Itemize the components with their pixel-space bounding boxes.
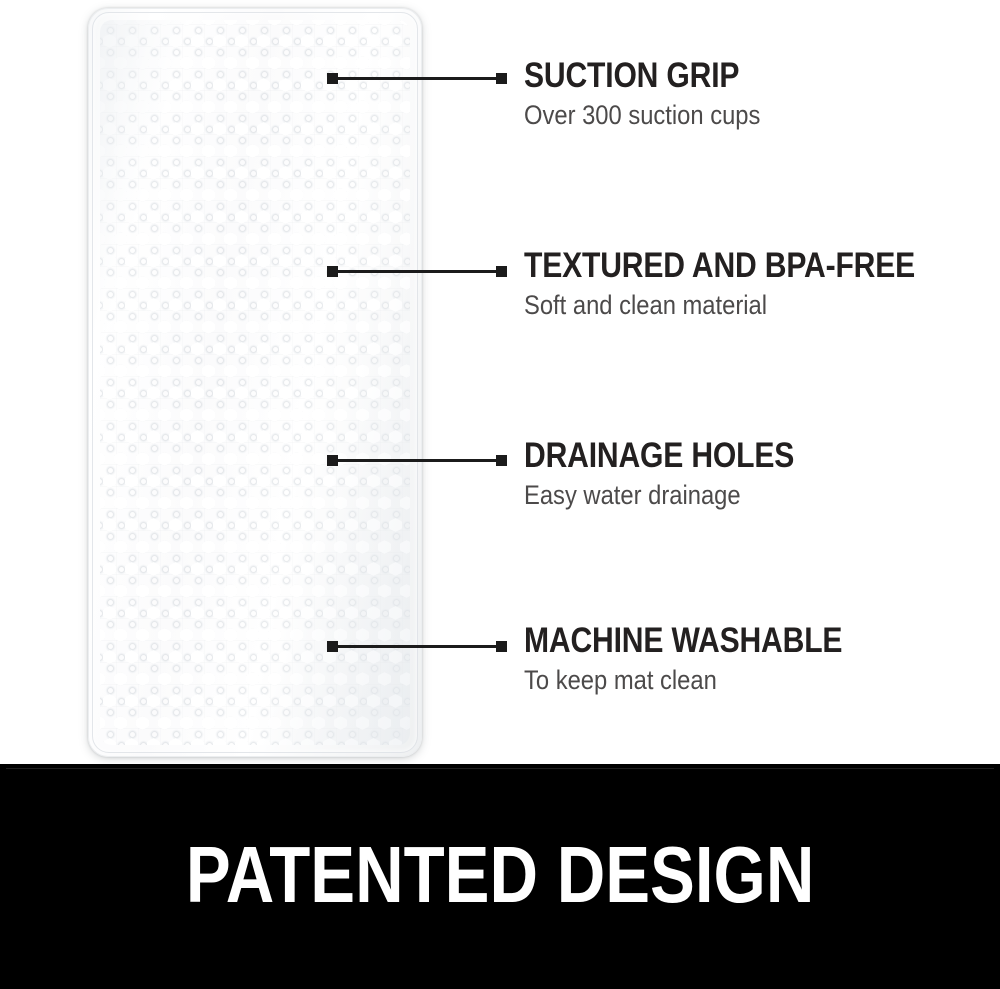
leader-line — [328, 270, 506, 273]
callout-subtitle: Easy water drainage — [524, 480, 911, 510]
leader-line — [328, 645, 506, 648]
leader-line — [328, 459, 506, 462]
callout-title: TEXTURED AND BPA-FREE — [524, 248, 902, 284]
leader-line — [328, 77, 506, 80]
leader-dot-end — [496, 73, 507, 84]
callout-subtitle: Over 300 suction cups — [524, 100, 911, 130]
callout-text-block: MACHINE WASHABLETo keep mat clean — [524, 623, 964, 695]
callout-subtitle: Soft and clean material — [524, 290, 911, 320]
banner-title: PATENTED DESIGN — [186, 835, 814, 915]
leader-dot-start — [327, 73, 338, 84]
callout-text-block: SUCTION GRIPOver 300 suction cups — [524, 58, 964, 130]
callout-title: SUCTION GRIP — [524, 58, 902, 94]
leader-dot-start — [327, 641, 338, 652]
leader-dot-start — [327, 455, 338, 466]
leader-dot-end — [496, 455, 507, 466]
mat-sheen-overlay — [100, 20, 410, 745]
leader-dot-start — [327, 266, 338, 277]
callout-title: MACHINE WASHABLE — [524, 623, 902, 659]
infographic-page: SUCTION GRIPOver 300 suction cupsTEXTURE… — [0, 0, 1000, 989]
leader-dot-end — [496, 641, 507, 652]
leader-dot-end — [496, 266, 507, 277]
callout-title: DRAINAGE HOLES — [524, 438, 902, 474]
callout-subtitle: To keep mat clean — [524, 665, 911, 695]
patented-design-banner: PATENTED DESIGN — [0, 764, 1000, 989]
callout-text-block: DRAINAGE HOLESEasy water drainage — [524, 438, 964, 510]
mat-texture-field — [100, 20, 410, 745]
callout-text-block: TEXTURED AND BPA-FREESoft and clean mate… — [524, 248, 964, 320]
banner-top-edge — [6, 768, 994, 769]
